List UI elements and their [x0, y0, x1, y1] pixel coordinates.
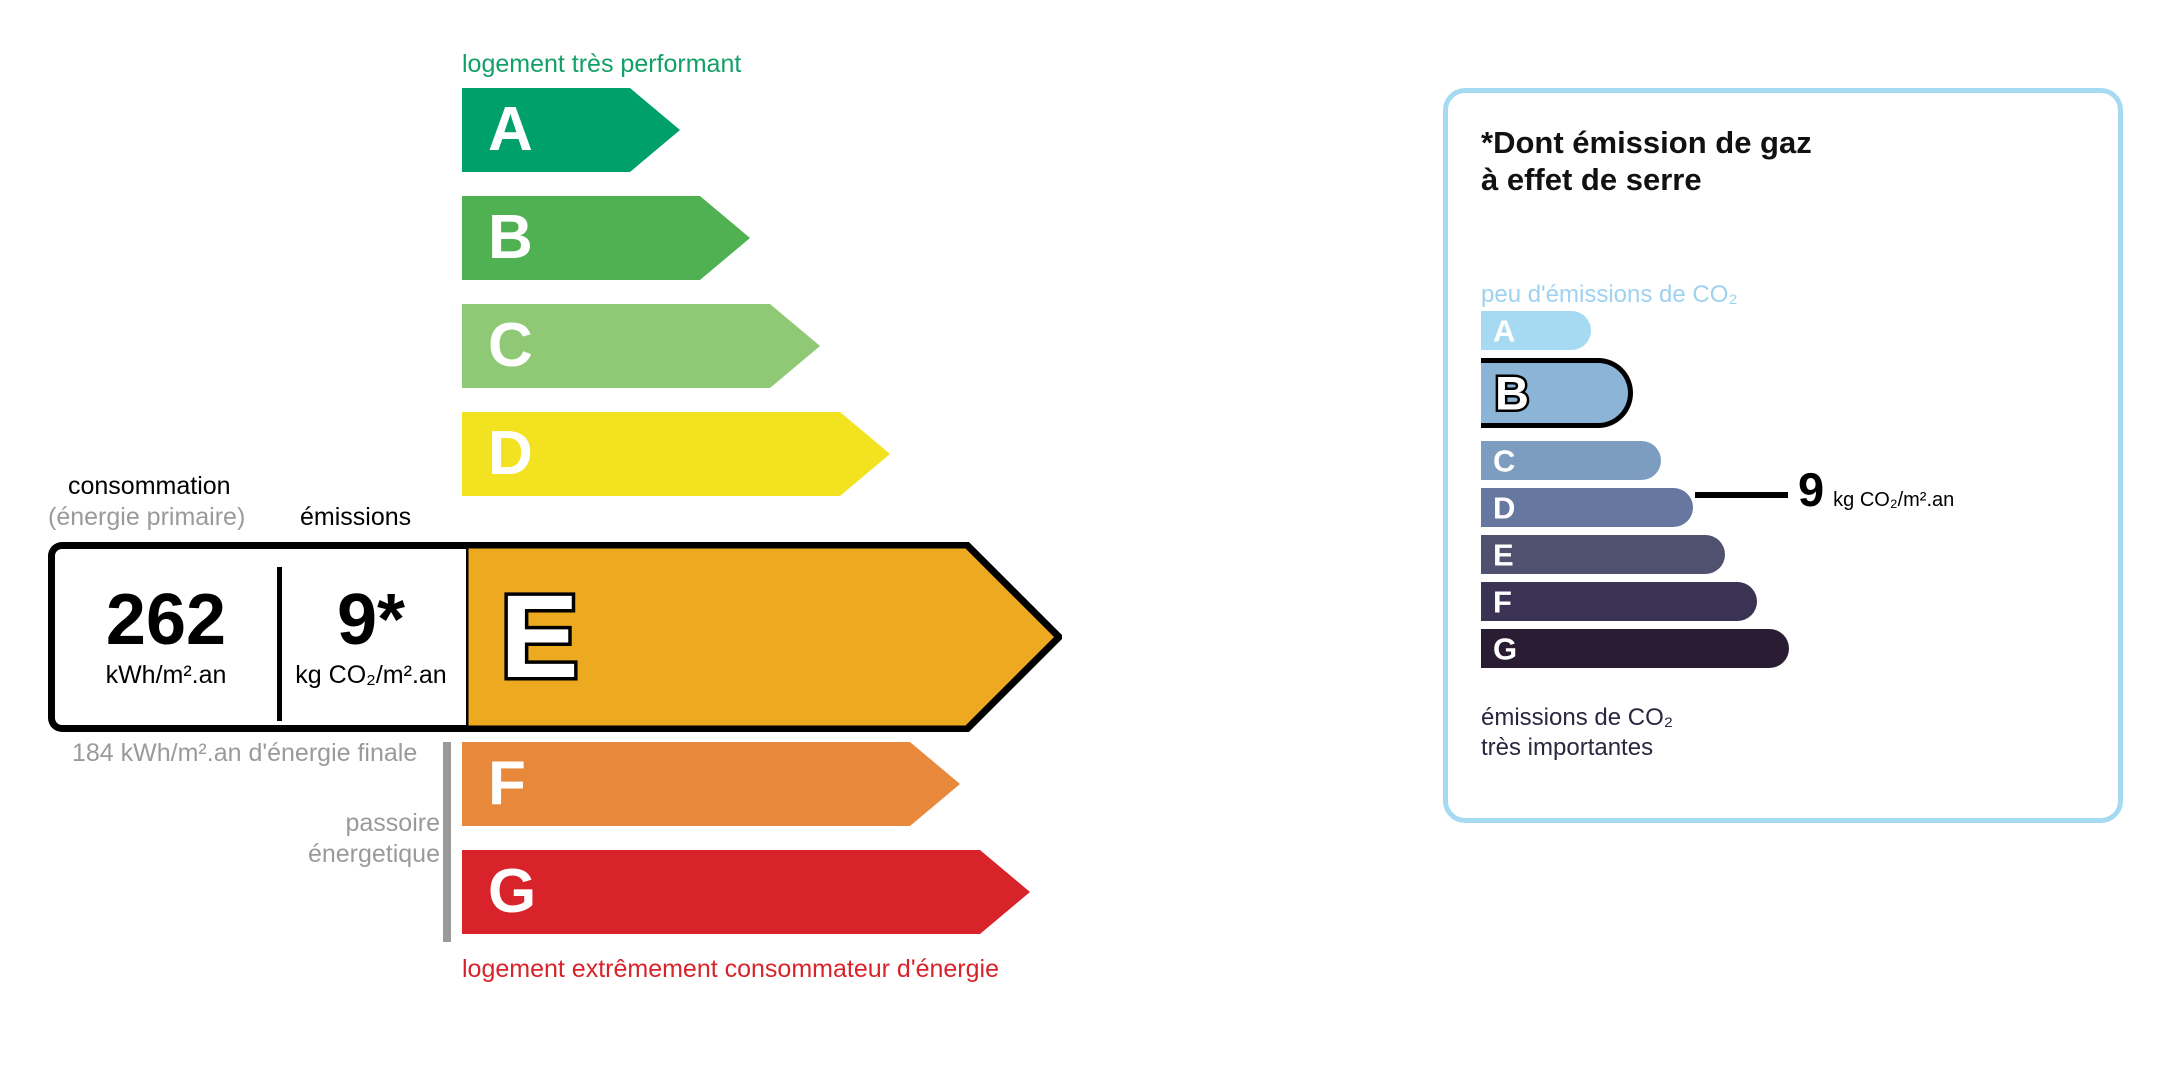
energy-values-box: 262 kWh/m².an 9* kg CO₂/m².an: [48, 542, 466, 732]
label-energie-primaire: (énergie primaire): [48, 503, 245, 532]
label-emissions: émissions: [300, 503, 411, 532]
co2-top-caption: peu d'émissions de CO₂: [1481, 281, 1738, 309]
energy-class-letter-d: D: [488, 423, 533, 485]
co2-bar-shape-d: D: [1481, 488, 1693, 527]
energy-bar-d: D: [462, 412, 890, 496]
co2-class-letter-f: F: [1493, 586, 1512, 617]
arrow-shape-e: E: [462, 542, 1062, 732]
energy-top-caption: logement très performant: [462, 50, 741, 79]
co2-value-callout: 9 kg CO₂/m².an: [1798, 466, 1954, 513]
co2-value-leader-line: [1695, 492, 1788, 498]
energy-bar-b: B: [462, 196, 750, 280]
emission-number: 9*: [337, 584, 405, 656]
energy-class-letter-b: B: [488, 207, 533, 269]
emission-unit: kg CO₂/m².an: [295, 662, 446, 690]
energy-bar-g: G: [462, 850, 1030, 934]
co2-class-letter-e: E: [1493, 539, 1514, 570]
energy-class-letter-g: G: [488, 861, 536, 923]
arrow-shape-g: G: [462, 850, 1030, 934]
co2-class-letter-c: C: [1493, 445, 1515, 476]
arrow-shape-f: F: [462, 742, 960, 826]
energy-class-letter-c: C: [488, 315, 533, 377]
co2-class-letter-b: B: [1495, 370, 1529, 417]
label-consommation: consommation: [68, 472, 231, 501]
co2-bottom-caption: émissions de CO₂ très importantes: [1481, 703, 1673, 763]
energy-bar-c: C: [462, 304, 820, 388]
co2-bar-b-highlighted: B: [1481, 358, 1633, 428]
energy-bar-a: A: [462, 88, 680, 172]
passoire-energetique-label: passoire énergetique: [290, 808, 440, 871]
co2-value-number: 9: [1798, 466, 1824, 513]
co2-value-unit: kg CO₂/m².an: [1833, 489, 1954, 512]
co2-class-letter-d: D: [1493, 492, 1515, 523]
co2-bar-e: E: [1481, 535, 1725, 574]
co2-panel-title: *Dont émission de gaz à effet de serre: [1481, 125, 1812, 198]
co2-bar-c: C: [1481, 441, 1661, 480]
co2-bar-a: A: [1481, 311, 1591, 350]
final-energy-label: 184 kWh/m².an d'énergie finale: [72, 738, 417, 769]
co2-bar-shape-g: G: [1481, 629, 1789, 668]
co2-class-letter-a: A: [1493, 315, 1515, 346]
arrow-shape-d: D: [462, 412, 890, 496]
co2-bar-g: G: [1481, 629, 1789, 668]
consumption-number: 262: [106, 584, 226, 656]
value-box-divider: [277, 567, 282, 721]
energy-class-letter-f: F: [488, 753, 526, 815]
co2-bar-shape-b: B: [1481, 358, 1633, 428]
co2-bar-f: F: [1481, 582, 1757, 621]
co2-bar-shape-a: A: [1481, 311, 1591, 350]
consumption-value-cell: 262 kWh/m².an: [55, 549, 277, 725]
consumption-unit: kWh/m².an: [106, 662, 227, 690]
co2-bar-shape-e: E: [1481, 535, 1725, 574]
passoire-divider-bar: [443, 742, 451, 942]
energy-bar-f: F: [462, 742, 960, 826]
energy-bar-e-highlighted: E: [462, 542, 1062, 732]
arrow-shape-c: C: [462, 304, 820, 388]
energy-performance-diagram: logement très performant A B C: [0, 0, 1330, 1079]
emission-value-cell: 9* kg CO₂/m².an: [283, 549, 459, 725]
arrow-shape-a: A: [462, 88, 680, 172]
co2-bar-shape-c: C: [1481, 441, 1661, 480]
co2-bar-d: D: [1481, 488, 1693, 527]
arrow-shape-b: B: [462, 196, 750, 280]
energy-class-letter-e: E: [500, 578, 579, 696]
energy-bottom-caption: logement extrêmement consommateur d'éner…: [462, 955, 999, 984]
energy-class-letter-a: A: [488, 99, 533, 161]
co2-bar-shape-f: F: [1481, 582, 1757, 621]
co2-class-letter-g: G: [1493, 633, 1517, 664]
co2-emissions-panel: *Dont émission de gaz à effet de serre p…: [1443, 88, 2123, 823]
